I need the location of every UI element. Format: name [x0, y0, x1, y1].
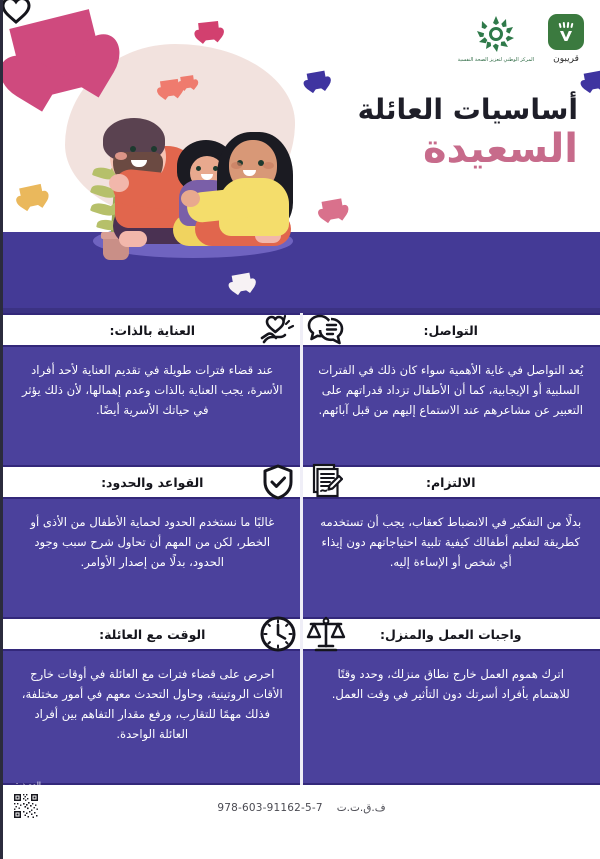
heart-white-icon — [232, 273, 253, 293]
heart-small-pink-icon — [198, 21, 220, 41]
page-title: أساسيات العائلة السعيدة — [358, 96, 578, 170]
heart-rose-icon — [322, 198, 345, 220]
card-body: اترك هموم العمل خارج نطاق منزلك، وحدد وق… — [302, 651, 600, 783]
card-header: العناية بالذات: — [3, 313, 302, 347]
card-communication: التواصل: يُعد التواصل في غاية الأهمية سو… — [302, 313, 600, 465]
father-eye — [130, 146, 136, 152]
app-tile — [548, 14, 584, 50]
title-line-1: أساسيات العائلة — [358, 96, 578, 124]
mother-cheek — [231, 162, 242, 169]
card-body: عند قضاء فترات طويلة في تقديم العناية لأ… — [3, 347, 302, 465]
card-self-care: العناية بالذات: عند قضاء فترات طويلة في … — [3, 313, 302, 465]
footer-bar: ف.ق.ت.ت 978-603-91162-5-7 — [3, 783, 600, 831]
card-body: بدلًا من التفكير في الانضباط كعقاب، يجب … — [302, 499, 600, 617]
qareeboon-mark-icon — [554, 20, 578, 44]
card-body: يُعد التواصل في غاية الأهمية سواء كان ذل… — [302, 347, 600, 465]
mother-hand — [181, 190, 200, 207]
father-hand — [109, 174, 129, 192]
document-pen-icon — [306, 462, 346, 502]
sunburst-logo-icon — [474, 14, 518, 54]
card-text: احرص على قضاء فترات مع العائلة في أوقات … — [19, 665, 286, 745]
card-text: بدلًا من التفكير في الانضباط كعقاب، يجب … — [318, 513, 585, 573]
heart-blue-edge-icon — [584, 71, 600, 91]
child-eye — [196, 166, 201, 171]
card-text: يُعد التواصل في غاية الأهمية سواء كان ذل… — [318, 361, 585, 421]
card-title: القواعد والحدود: — [101, 475, 203, 490]
card-text: غالبًا ما نستخدم الحدود لحماية الأطفال م… — [19, 513, 286, 573]
footer-code: ف.ق.ت.ت — [337, 802, 386, 814]
card-commitment: الالتزام: بدلًا من التفكير في الانضباط ك… — [302, 465, 600, 617]
clock-icon — [258, 614, 298, 654]
chat-bubble-icon — [306, 310, 346, 350]
tips-grid: العناية بالذات: عند قضاء فترات طويلة في … — [3, 313, 600, 783]
card-rules-boundaries: القواعد والحدود: غالبًا ما نستخدم الحدود… — [3, 465, 302, 617]
national-center-logo-caption: المركز الوطني لتعزيز الصحة النفسية — [458, 57, 534, 63]
qareeboon-logo: قريبون — [548, 14, 584, 64]
card-text: عند قضاء فترات طويلة في تقديم العناية لأ… — [19, 361, 286, 421]
hero-section: المركز الوطني لتعزيز الصحة النفسية ق — [3, 0, 600, 313]
national-center-logo: المركز الوطني لتعزيز الصحة النفسية — [458, 14, 534, 63]
card-header: الالتزام: — [302, 465, 600, 499]
column-divider — [300, 313, 303, 783]
source-label: المصدر: — [11, 780, 41, 789]
scales-balance-icon — [306, 614, 346, 654]
card-text: اترك هموم العمل خارج نطاق منزلك، وحدد وق… — [318, 665, 585, 705]
card-title: الالتزام: — [426, 475, 476, 490]
footer-isbn: 978-603-91162-5-7 — [217, 802, 322, 814]
infographic-poster: المركز الوطني لتعزيز الصحة النفسية ق — [0, 0, 600, 859]
shield-check-icon — [258, 462, 298, 502]
mother-cheek — [263, 162, 274, 169]
card-title: الوقت مع العائلة: — [99, 627, 205, 642]
card-header: واجبات العمل والمنزل: — [302, 617, 600, 651]
card-header: التواصل: — [302, 313, 600, 347]
card-work-home-duties: واجبات العمل والمنزل: اترك هموم العمل خا… — [302, 617, 600, 783]
card-body: احرص على قضاء فترات مع العائلة في أوقات … — [3, 651, 302, 783]
heart-gold-icon — [19, 184, 45, 208]
card-header: القواعد والحدود: — [3, 465, 302, 499]
father-foot — [119, 231, 147, 247]
father-cheek — [115, 152, 127, 160]
title-line-2: السعيدة — [358, 128, 578, 170]
qr-code[interactable] — [11, 791, 41, 821]
qareeboon-logo-caption: قريبون — [553, 54, 579, 64]
card-body: غالبًا ما نستخدم الحدود لحماية الأطفال م… — [3, 499, 302, 617]
card-title: التواصل: — [424, 323, 478, 338]
card-title: العناية بالذات: — [109, 323, 195, 338]
logo-group: المركز الوطني لتعزيز الصحة النفسية ق — [458, 14, 584, 64]
card-header: الوقت مع العائلة: — [3, 617, 302, 651]
source-block: المصدر: — [11, 780, 41, 821]
card-family-time: الوقت مع العائلة: احرص على قضاء فترات مع… — [3, 617, 302, 783]
heart-blue-icon — [307, 71, 328, 91]
card-title: واجبات العمل والمنزل: — [380, 627, 522, 642]
father-eye — [151, 146, 157, 152]
family-hugging-illustration — [47, 56, 307, 266]
heart-in-hand-icon — [258, 310, 298, 350]
